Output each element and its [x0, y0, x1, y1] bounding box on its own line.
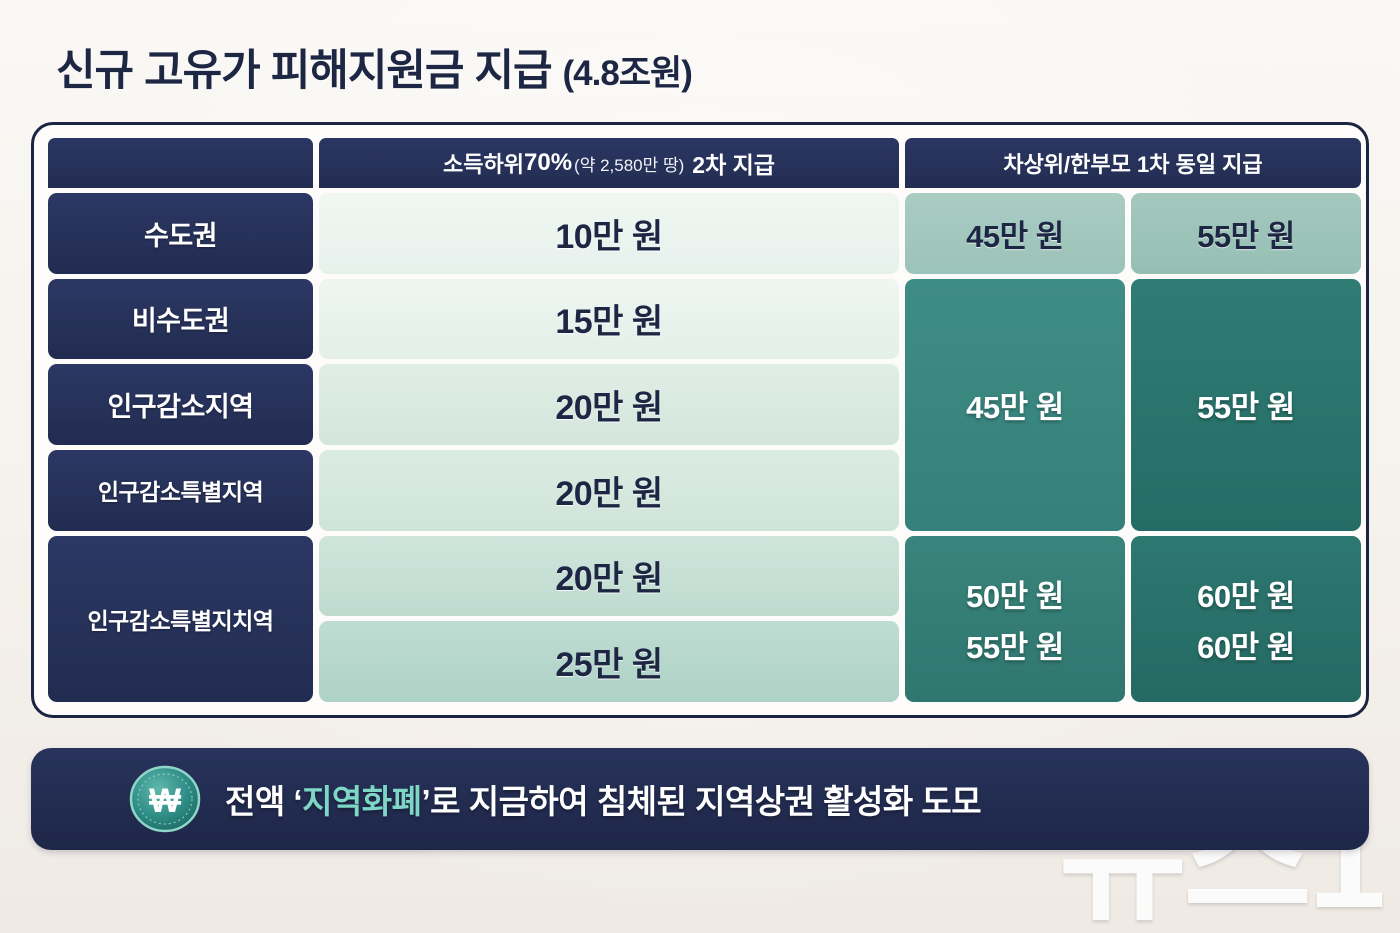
header-income-note: (약 2,580만 땅)	[574, 151, 684, 176]
header-cell-blank	[48, 138, 313, 188]
right-a-bottom-value-2: 55만 원	[966, 622, 1064, 667]
footer-banner: ₩ 전액 ‘지역화폐’로 지금하여 침체된 지역상권 활성화 도모	[31, 748, 1369, 850]
header-income-percent: 70%	[524, 149, 572, 177]
footer-highlight: 지역화폐	[302, 783, 421, 820]
header-cell-secondary-singleparent: 차상위/한부모 1차 동일 지급	[905, 138, 1361, 188]
table-cell-right-b-bottom: 60만 원 60만 원	[1131, 536, 1361, 702]
footer-message: 전액 ‘지역화폐’로 지금하여 침체된 지역상권 활성화 도모	[225, 775, 981, 823]
table-cell-right-a-bottom: 50만 원 55만 원	[905, 536, 1125, 702]
won-coin-icon: ₩	[127, 761, 203, 837]
page-title-main: 신규 고유가 피해지원금 지급	[56, 47, 552, 95]
footer-lead: 전액 ‘	[225, 783, 302, 820]
table-cell-middle-row3: 20만 원	[319, 364, 899, 445]
table-cell-middle-row4: 20만 원	[319, 450, 899, 531]
table-cell-right-b-row1: 55만 원	[1131, 193, 1361, 274]
table-cell-right-b-merged: 55만 원	[1131, 279, 1361, 531]
header-income-lead: 소득하위	[443, 147, 524, 179]
page-title-amount: (4.8조원)	[563, 54, 692, 93]
table-cell-middle-row5: 20만 원	[319, 536, 899, 617]
table-row-label-sudogwon: 수도권	[48, 193, 313, 274]
table-cell-middle-row6: 25만 원	[319, 621, 899, 702]
table-cell-middle-row2: 15만 원	[319, 279, 899, 360]
support-payment-table: 소득하위 70%(약 2,580만 땅)2차 지급 차상위/한부모 1차 동일 …	[31, 122, 1369, 718]
footer-tail: ’로 지금하여 침체된 지역상권 활성화 도모	[422, 783, 982, 820]
table-row-label-bisudogwon: 비수도권	[48, 279, 313, 360]
svg-text:₩: ₩	[149, 782, 182, 820]
table-body: 수도권 10만 원 45만 원 55만 원 비수도권 15만 원 45만 원 5…	[48, 193, 1361, 702]
right-b-bottom-value-2: 60만 원	[1197, 622, 1295, 667]
table-row-label-population-decline-special-autonomous: 인구감소특별지치역	[48, 536, 313, 702]
table-cell-right-a-row1: 45만 원	[905, 193, 1125, 274]
table-row-label-population-decline: 인구감소지역	[48, 364, 313, 445]
right-b-bottom-value-1: 60만 원	[1197, 571, 1295, 616]
right-a-bottom-value-1: 50만 원	[966, 571, 1064, 616]
header-cell-income-70: 소득하위 70%(약 2,580만 땅)2차 지급	[319, 138, 899, 188]
table-cell-right-a-merged: 45만 원	[905, 279, 1125, 531]
header-income-tail: 2차 지급	[692, 146, 775, 180]
page-title: 신규 고유가 피해지원금 지급 (4.8조원)	[56, 36, 692, 98]
table-row-label-population-decline-special: 인구감소특별지역	[48, 450, 313, 531]
table-cell-middle-row1: 10만 원	[319, 193, 899, 274]
